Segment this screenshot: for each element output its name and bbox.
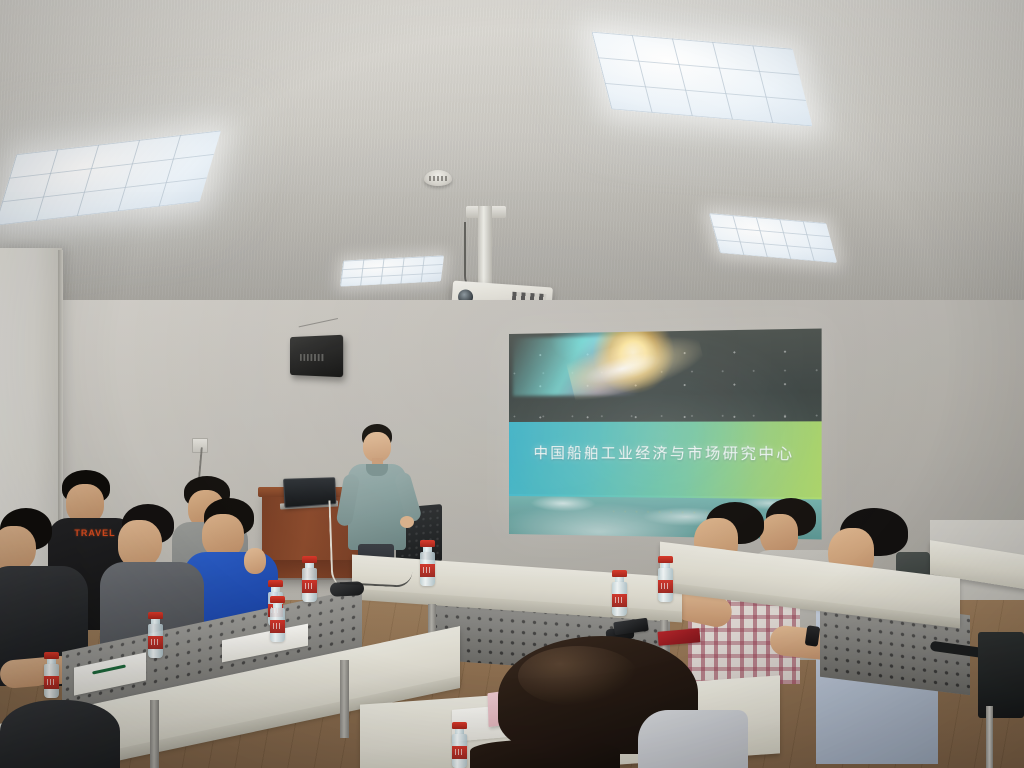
presenter-collar — [366, 464, 388, 476]
conference-room-photo: 中国船舶工业经济与市场研究中心 · · · · · · · · · TRAV — [0, 0, 1024, 768]
attendee-face — [118, 520, 162, 568]
presenter-hand — [400, 516, 414, 528]
table-leg — [150, 700, 159, 768]
attendee-hand — [244, 548, 266, 574]
water-bottle[interactable] — [302, 556, 317, 602]
water-bottle[interactable] — [148, 612, 163, 658]
slide-title-text: 中国船舶工业经济与市场研究中心 — [509, 442, 822, 465]
attendee-foreground-left-shoulder — [0, 700, 120, 768]
hair-highlight — [518, 646, 638, 706]
water-bottle[interactable] — [270, 596, 285, 642]
table-leg — [340, 660, 349, 738]
wall-speaker — [290, 335, 343, 378]
water-bottle[interactable] — [612, 570, 627, 616]
chair-leg — [986, 706, 993, 768]
water-bottle[interactable] — [420, 540, 435, 586]
speaker-grille — [300, 354, 323, 361]
attendee-foreground-dark-hair — [470, 740, 620, 768]
water-bottle[interactable] — [44, 652, 59, 698]
wristwatch — [805, 625, 821, 647]
water-bottle[interactable] — [658, 556, 673, 602]
water-bottle[interactable] — [452, 722, 467, 768]
black-side-chair[interactable] — [978, 632, 1024, 718]
attendee-shoulder — [638, 710, 748, 768]
smoke-detector-vents — [429, 176, 447, 181]
smoke-detector-icon — [424, 170, 452, 186]
presenter — [346, 424, 408, 574]
ceiling-light-center — [340, 255, 444, 286]
